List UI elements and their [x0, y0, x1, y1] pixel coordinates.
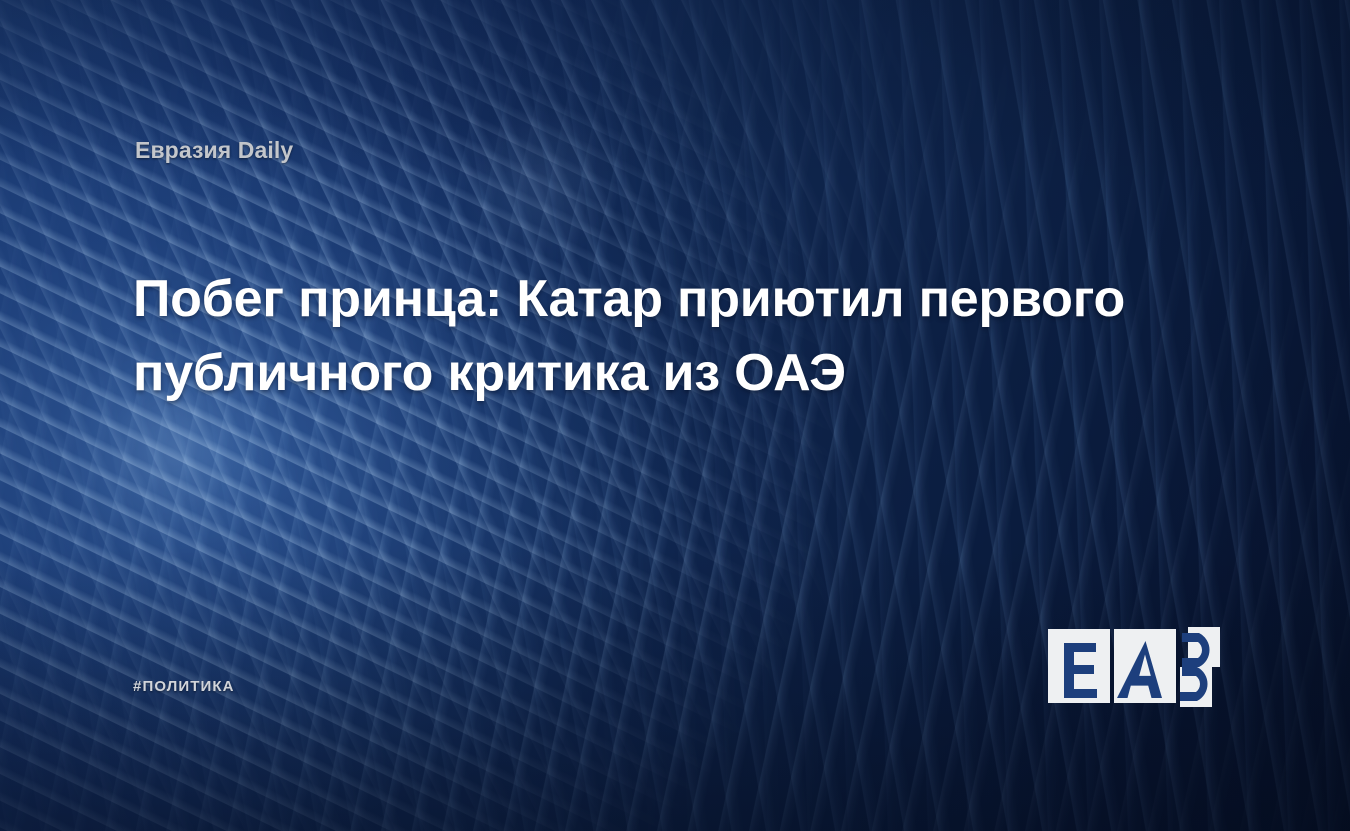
category-hashtag[interactable]: #ПОЛИТИКА [133, 678, 235, 695]
logo-tile-a [1114, 629, 1176, 703]
social-share-card: Евразия Daily Побег принца: Катар приюти… [0, 0, 1350, 831]
eadaily-logo[interactable] [1048, 627, 1220, 707]
card-content: Евразия Daily Побег принца: Катар приюти… [0, 0, 1350, 831]
logo-tile-e [1048, 629, 1110, 703]
logo-tile-d [1180, 627, 1220, 707]
article-headline: Побег принца: Катар приютил первого публ… [133, 262, 1193, 410]
publication-name: Евразия Daily [135, 137, 293, 164]
